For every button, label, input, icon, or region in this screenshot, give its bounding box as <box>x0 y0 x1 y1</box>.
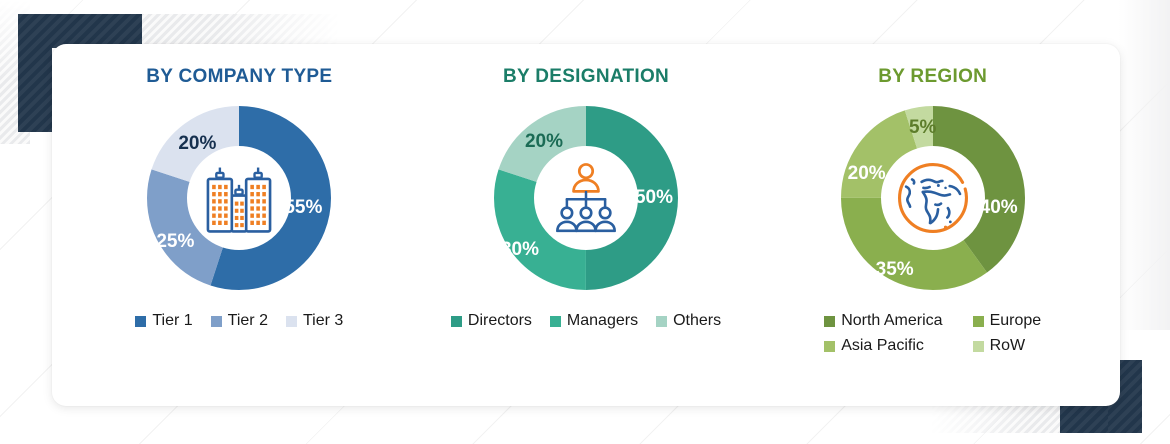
legend-swatch-tier-2 <box>211 316 222 327</box>
chart-panel-company-type: BY COMPANY TYPE 55% <box>66 66 413 330</box>
legend-swatch-europe <box>973 316 984 327</box>
legend-item-europe[interactable]: Europe <box>973 312 1042 330</box>
donut-value-north-america: 40% <box>980 197 1018 219</box>
legend-item-managers[interactable]: Managers <box>550 312 638 330</box>
donut-value-managers: 30% <box>501 239 539 261</box>
legend-item-tier-3[interactable]: Tier 3 <box>286 312 343 330</box>
legend-item-others[interactable]: Others <box>656 312 721 330</box>
legend-label-europe: Europe <box>990 312 1042 330</box>
top-left-hatch-strip <box>140 14 340 48</box>
legend-label-directors: Directors <box>468 312 532 330</box>
corner-bracket-top-left-vertical <box>18 14 52 132</box>
legend-item-directors[interactable]: Directors <box>451 312 532 330</box>
legend-label-others: Others <box>673 312 721 330</box>
legend-item-tier-1[interactable]: Tier 1 <box>135 312 192 330</box>
legend-label-tier-3: Tier 3 <box>303 312 343 330</box>
donut-chart-designation: 50% 30% 20% <box>486 98 686 298</box>
legend-region: North America Europe Asia Pacific RoW <box>824 312 1041 355</box>
donut-chart-region: 40% 35% 20% 5% <box>833 98 1033 298</box>
globe-icon <box>890 155 976 241</box>
legend-swatch-north-america <box>824 316 835 327</box>
legend-swatch-asia-pacific <box>824 341 835 352</box>
legend-swatch-managers <box>550 316 561 327</box>
legend-item-tier-2[interactable]: Tier 2 <box>211 312 268 330</box>
legend-swatch-others <box>656 316 667 327</box>
legend-company-type: Tier 1 Tier 2 Tier 3 <box>135 312 343 330</box>
legend-label-north-america: North America <box>841 312 942 330</box>
donut-value-tier-1: 55% <box>284 197 322 219</box>
infographic-canvas: BY COMPANY TYPE 55% <box>0 0 1170 444</box>
legend-swatch-tier-3 <box>286 316 297 327</box>
legend-swatch-row <box>973 341 984 352</box>
charts-row: BY COMPANY TYPE 55% <box>52 44 1120 406</box>
legend-item-asia-pacific[interactable]: Asia Pacific <box>824 337 924 355</box>
office-buildings-icon <box>196 155 282 241</box>
legend-swatch-directors <box>451 316 462 327</box>
legend-label-tier-1: Tier 1 <box>152 312 192 330</box>
org-hierarchy-icon <box>543 155 629 241</box>
chart-title-region: BY REGION <box>878 66 987 88</box>
legend-item-row[interactable]: RoW <box>973 337 1026 355</box>
legend-label-managers: Managers <box>567 312 638 330</box>
donut-value-tier-2: 25% <box>156 231 194 253</box>
donut-value-asia-pacific: 20% <box>848 163 886 185</box>
chart-panel-designation: BY DESIGNATION 50% 30% 20% <box>413 66 760 330</box>
chart-panel-region: BY REGION 4 <box>759 66 1106 355</box>
right-edge-gradient <box>1118 0 1170 330</box>
chart-title-company-type: BY COMPANY TYPE <box>146 66 332 88</box>
content-card: BY COMPANY TYPE 55% <box>52 44 1120 406</box>
legend-label-row: RoW <box>990 337 1026 355</box>
legend-designation: Directors Managers Others <box>451 312 721 330</box>
legend-swatch-tier-1 <box>135 316 146 327</box>
legend-label-asia-pacific: Asia Pacific <box>841 337 924 355</box>
donut-chart-company-type: 55% 25% 20% <box>139 98 339 298</box>
legend-item-north-america[interactable]: North America <box>824 312 942 330</box>
donut-value-directors: 50% <box>635 187 673 209</box>
legend-label-tier-2: Tier 2 <box>228 312 268 330</box>
chart-title-designation: BY DESIGNATION <box>503 66 669 88</box>
